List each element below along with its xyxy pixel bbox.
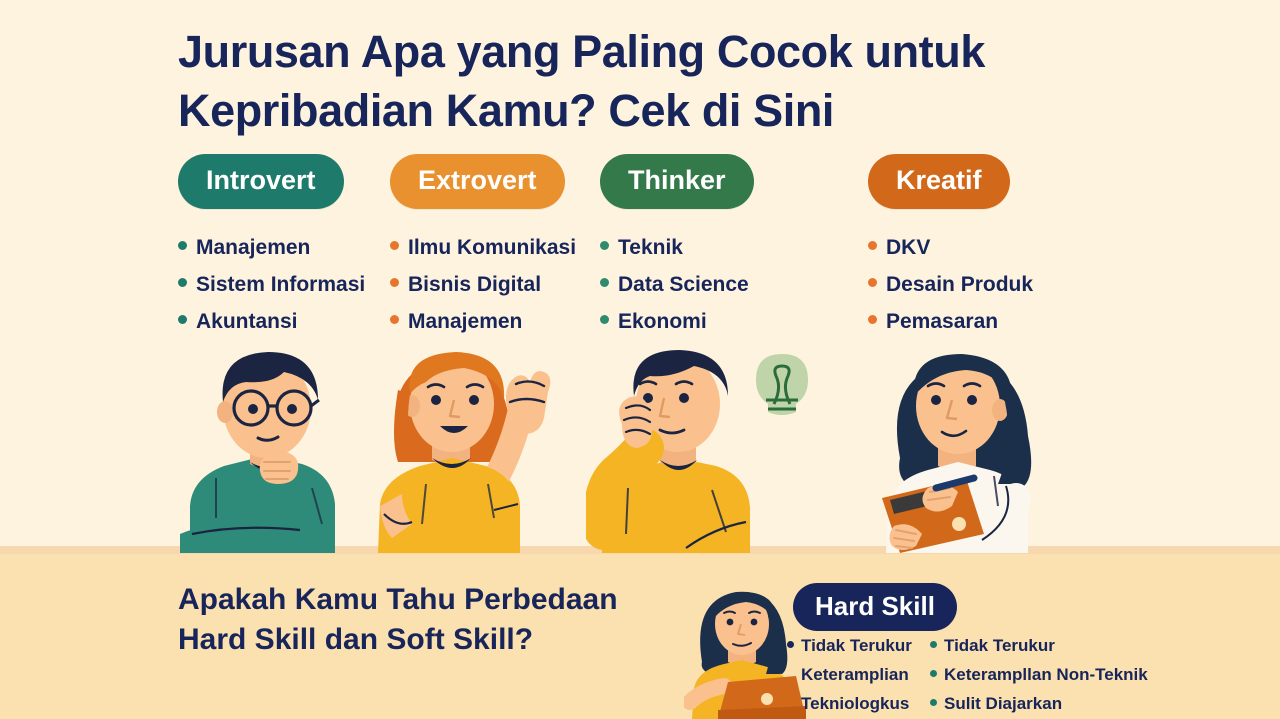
list-item: DKV bbox=[868, 229, 1033, 266]
list-item-label: Teknik bbox=[618, 229, 683, 266]
list-item: Sistem Informasi bbox=[178, 266, 365, 303]
bullet-dot bbox=[390, 315, 399, 324]
list-item: Teknik bbox=[600, 229, 754, 266]
bullet-dot bbox=[868, 315, 877, 324]
list-item: Sulit Diajarkan bbox=[930, 689, 1148, 718]
list-item-label: Bisnis Digital bbox=[408, 266, 541, 303]
list-item-label: Manajemen bbox=[408, 303, 522, 340]
category-column-introvert: Introvert Manajemen Sistem Informasi Aku… bbox=[178, 154, 365, 340]
list-item: Manajemen bbox=[178, 229, 365, 266]
bullet-dot bbox=[390, 278, 399, 287]
bullet-dot bbox=[178, 315, 187, 324]
woman-with-tablet-dark-hair bbox=[866, 338, 1081, 553]
category-pill-introvert[interactable]: Introvert bbox=[178, 154, 344, 209]
thinking-man-glasses-teal-sweater bbox=[172, 338, 362, 553]
bullet-dot bbox=[600, 278, 609, 287]
list-item-label: Ilmu Komunikasi bbox=[408, 229, 576, 266]
bottom-question: Apakah Kamu Tahu Perbedaan Hard Skill da… bbox=[178, 580, 738, 660]
list-item-label: Akuntansi bbox=[196, 303, 298, 340]
bottom-question-line-2: Hard Skill dan Soft Skill? bbox=[178, 623, 533, 656]
hard-skill-pill[interactable]: Hard Skill bbox=[793, 583, 957, 631]
list-item: Ilmu Komunikasi bbox=[390, 229, 576, 266]
list-item-label: DKV bbox=[886, 229, 930, 266]
list-item: Keteramplian bbox=[787, 660, 912, 689]
category-pill-extrovert[interactable]: Extrovert bbox=[390, 154, 565, 209]
category-column-thinker: Thinker Teknik Data Science Ekonomi bbox=[600, 154, 754, 340]
hard-skill-right-list: Tidak Terukur Keterampllan Non-Teknik Su… bbox=[930, 631, 1148, 718]
list-item: Manajemen bbox=[390, 303, 576, 340]
list-item-label: Sulit Diajarkan bbox=[944, 689, 1062, 718]
hard-skill-left-list: Tidak Terukur Keteramplian Tekniologkus bbox=[787, 631, 912, 718]
list-item-label: Manajemen bbox=[196, 229, 310, 266]
bullet-dot bbox=[868, 278, 877, 287]
category-column-kreatif: Kreatif DKV Desain Produk Pemasaran bbox=[868, 154, 1033, 340]
category-items-kreatif: DKV Desain Produk Pemasaran bbox=[868, 229, 1033, 340]
infographic-canvas: Jurusan Apa yang Paling Cocok untuk Kepr… bbox=[0, 0, 1280, 719]
list-item: Tidak Terukur bbox=[787, 631, 912, 660]
category-items-introvert: Manajemen Sistem Informasi Akuntansi bbox=[178, 229, 365, 340]
list-item-label: Tidak Terukur bbox=[944, 631, 1055, 660]
list-item-label: Keterampllan Non-Teknik bbox=[944, 660, 1148, 689]
list-item-label: Sistem Informasi bbox=[196, 266, 365, 303]
category-pill-kreatif[interactable]: Kreatif bbox=[868, 154, 1010, 209]
list-item-label: Tidak Terukur bbox=[801, 631, 912, 660]
list-item: Data Science bbox=[600, 266, 754, 303]
category-pill-thinker[interactable]: Thinker bbox=[600, 154, 754, 209]
bottom-question-line-1: Apakah Kamu Tahu Perbedaan bbox=[178, 583, 618, 616]
list-item: Tidak Terukur bbox=[930, 631, 1148, 660]
bullet-dot bbox=[178, 278, 187, 287]
bullet-dot bbox=[390, 241, 399, 250]
list-item: Akuntansi bbox=[178, 303, 365, 340]
bullet-dot bbox=[787, 641, 794, 648]
title-line-1: Jurusan Apa yang Paling Cocok untuk bbox=[178, 26, 985, 77]
lightbulb-icon bbox=[756, 354, 808, 415]
list-item: Desain Produk bbox=[868, 266, 1033, 303]
category-column-extrovert: Extrovert Ilmu Komunikasi Bisnis Digital… bbox=[390, 154, 576, 340]
bullet-dot bbox=[868, 241, 877, 250]
bullet-dot bbox=[930, 670, 937, 677]
list-item-label: Ekonomi bbox=[618, 303, 707, 340]
list-item: Pemasaran bbox=[868, 303, 1033, 340]
list-item-label: Data Science bbox=[618, 266, 749, 303]
list-item: Ekonomi bbox=[600, 303, 754, 340]
page-title: Jurusan Apa yang Paling Cocok untuk Kepr… bbox=[178, 22, 1078, 141]
list-item: Keterampllan Non-Teknik bbox=[930, 660, 1148, 689]
bullet-dot bbox=[600, 241, 609, 250]
category-items-extrovert: Ilmu Komunikasi Bisnis Digital Manajemen bbox=[390, 229, 576, 340]
list-item-label: Pemasaran bbox=[886, 303, 998, 340]
list-item-label: Desain Produk bbox=[886, 266, 1033, 303]
list-item: Bisnis Digital bbox=[390, 266, 576, 303]
bullet-dot bbox=[178, 241, 187, 250]
waving-woman-orange-hair-yellow-shirt bbox=[368, 338, 568, 553]
list-item-label: Keteramplian bbox=[801, 660, 909, 689]
bullet-dot bbox=[930, 699, 937, 706]
bullet-dot bbox=[600, 315, 609, 324]
bullet-dot bbox=[930, 641, 937, 648]
title-line-2: Kepribadian Kamu? Cek di Sini bbox=[178, 81, 1078, 140]
idea-man-yellow-sweater-lightbulb bbox=[586, 338, 816, 553]
category-items-thinker: Teknik Data Science Ekonomi bbox=[600, 229, 754, 340]
list-item-label: Tekniologkus bbox=[801, 689, 909, 718]
list-item: Tekniologkus bbox=[787, 689, 912, 718]
